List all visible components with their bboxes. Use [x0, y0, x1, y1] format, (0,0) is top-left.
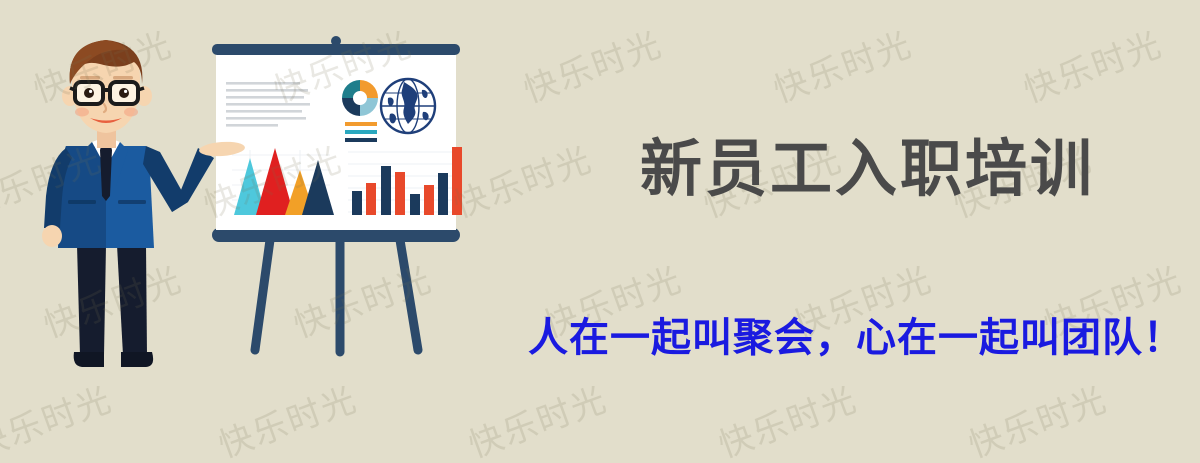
slide-legend-bars — [345, 122, 377, 142]
presenter-head — [62, 40, 152, 133]
presenter-jacket — [58, 139, 154, 248]
presenter-shoe-left — [74, 352, 104, 367]
easel-bottom-bar — [212, 228, 460, 242]
training-banner: 快乐时光 快乐时光 快乐时光 快乐时光 快乐时光 快乐时光 快乐时光 快乐时光 … — [0, 0, 1200, 463]
banner-text-block: 新员工入职培训 人在一起叫聚会，心在一起叫团队！ — [520, 0, 1200, 463]
presenter-shoe-right — [121, 352, 153, 367]
page-title: 新员工入职培训 — [640, 118, 1095, 208]
easel-knob — [331, 36, 341, 46]
presenter-illustration — [0, 0, 520, 463]
presenter-hand-left — [42, 225, 62, 247]
presenter-legs — [74, 245, 153, 367]
easel-legs — [255, 240, 418, 352]
banner-subtitle: 人在一起叫聚会，心在一起叫团队！ — [528, 305, 1184, 363]
